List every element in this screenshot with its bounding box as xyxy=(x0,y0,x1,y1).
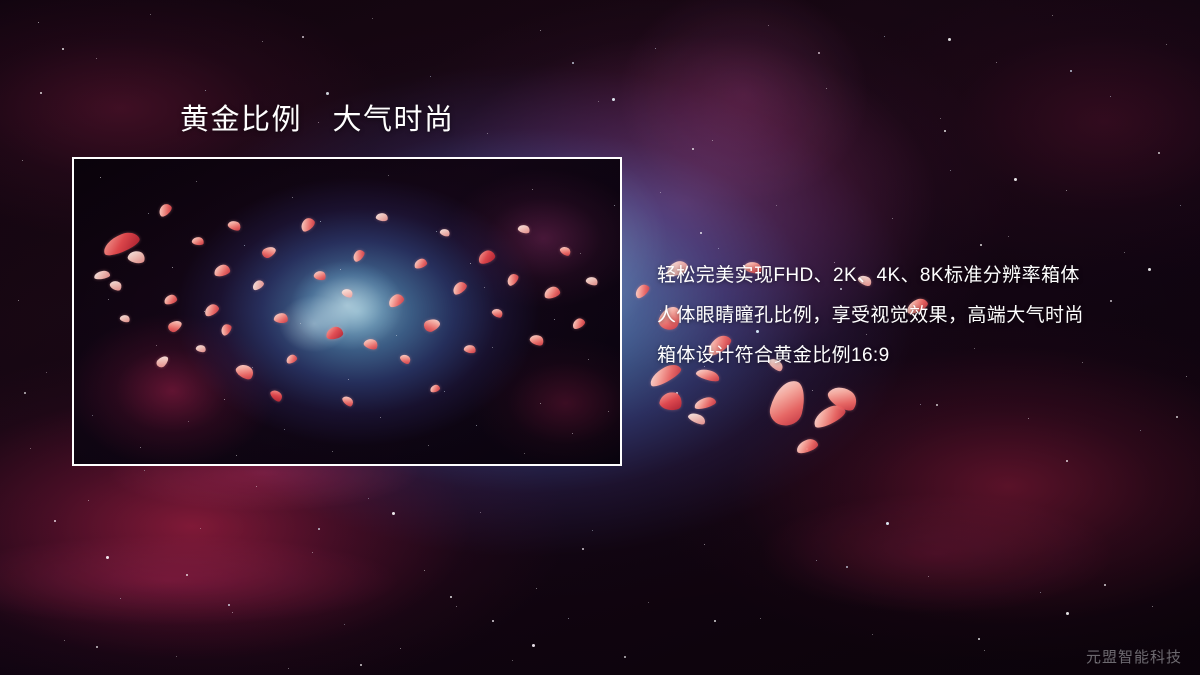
body-line-1: 轻松完美实现FHD、2K、4K、8K标准分辨率箱体 xyxy=(657,256,1177,296)
petal xyxy=(687,411,707,427)
body-line-2: 人体眼睛瞳孔比例，享受视觉效果，高端大气时尚 xyxy=(657,296,1177,336)
petal xyxy=(633,282,652,300)
petal xyxy=(795,437,820,455)
petal xyxy=(658,390,683,412)
watermark: 元盟智能科技 xyxy=(1086,646,1182,667)
slide-canvas: 黄金比例 大气时尚 轻松完美实现FHD、2K、4K、8K标准分辨率箱体 人体眼睛… xyxy=(0,0,1200,675)
starfield-large xyxy=(0,0,3,3)
frame-starfield xyxy=(74,159,75,160)
framed-nebula-image xyxy=(72,157,622,466)
body-copy: 轻松完美实现FHD、2K、4K、8K标准分辨率箱体 人体眼睛瞳孔比例，享受视觉效… xyxy=(657,256,1177,376)
petal xyxy=(767,377,809,429)
body-line-3: 箱体设计符合黄金比例16:9 xyxy=(657,336,1177,376)
frame-core-glow xyxy=(74,159,620,464)
page-title: 黄金比例 大气时尚 xyxy=(180,102,455,138)
petal xyxy=(693,395,717,410)
